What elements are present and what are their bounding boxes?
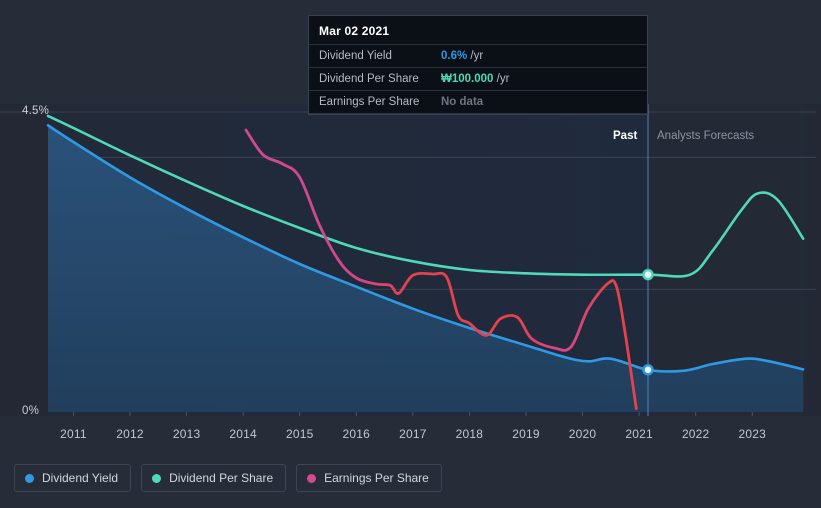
tooltip-date: Mar 02 2021 [309, 16, 647, 44]
tooltip-row: Dividend Per Share₩100.000 /yr [309, 67, 647, 90]
tooltip-row: Earnings Per ShareNo data [309, 90, 647, 114]
tooltip-row-value: No data [441, 96, 483, 108]
legend-swatch-icon [152, 474, 161, 483]
x-axis-tick-2022: 2022 [682, 427, 710, 441]
x-axis-tick-2015: 2015 [286, 427, 314, 441]
tooltip-row-label: Earnings Per Share [319, 96, 441, 108]
tooltip-row-label: Dividend Yield [319, 50, 441, 62]
legend-item-label: Dividend Per Share [169, 471, 273, 485]
legend-item-label: Dividend Yield [42, 471, 118, 485]
chart-plot-area [0, 104, 821, 416]
legend-swatch-icon [25, 474, 34, 483]
legend-item-earnings-per-share[interactable]: Earnings Per Share [296, 464, 442, 492]
x-axis-tick-2018: 2018 [456, 427, 484, 441]
y-axis-label-max: 4.5% [22, 105, 49, 117]
y-axis-label-min: 0% [22, 405, 39, 417]
tooltip-row-number: No data [441, 96, 483, 108]
x-axis-tick-2017: 2017 [399, 427, 427, 441]
x-axis-tick-2014: 2014 [229, 427, 257, 441]
x-axis-tick-2023: 2023 [739, 427, 767, 441]
legend-item-dividend-yield[interactable]: Dividend Yield [14, 464, 131, 492]
x-axis-tick-2019: 2019 [512, 427, 540, 441]
x-axis-tick-2016: 2016 [343, 427, 371, 441]
tooltip-row-unit: /yr [493, 73, 509, 85]
tooltip-row-unit: /yr [467, 50, 483, 62]
tooltip-row-number: ₩100.000 [441, 73, 493, 85]
x-axis: 2011201220132014201520162017201820192020… [0, 427, 821, 449]
tooltip-row-value: ₩100.000 /yr [441, 73, 509, 85]
past-band-label: Past [613, 130, 637, 142]
x-axis-tick-2012: 2012 [116, 427, 144, 441]
x-axis-tick-2013: 2013 [173, 427, 201, 441]
x-axis-tick-2020: 2020 [569, 427, 597, 441]
tooltip-row: Dividend Yield0.6% /yr [309, 44, 647, 67]
data-tooltip: Mar 02 2021 Dividend Yield0.6% /yrDivide… [308, 15, 648, 115]
tooltip-row-number: 0.6% [441, 50, 467, 62]
forecast-band-label: Analysts Forecasts [657, 130, 754, 142]
legend-item-label: Earnings Per Share [324, 471, 429, 485]
legend-item-dividend-per-share[interactable]: Dividend Per Share [141, 464, 286, 492]
legend-swatch-icon [307, 474, 316, 483]
series-marker [644, 270, 653, 279]
x-axis-tick-2011: 2011 [60, 427, 87, 441]
x-axis-tick-2021: 2021 [625, 427, 653, 441]
chart-canvas [0, 104, 821, 416]
chart-legend: Dividend YieldDividend Per ShareEarnings… [14, 464, 442, 492]
tooltip-row-value: 0.6% /yr [441, 50, 483, 62]
dividend-chart-widget: 4.5% 0% 20112012201320142015201620172018… [0, 0, 821, 508]
series-marker [644, 365, 653, 374]
tooltip-row-label: Dividend Per Share [319, 73, 441, 85]
